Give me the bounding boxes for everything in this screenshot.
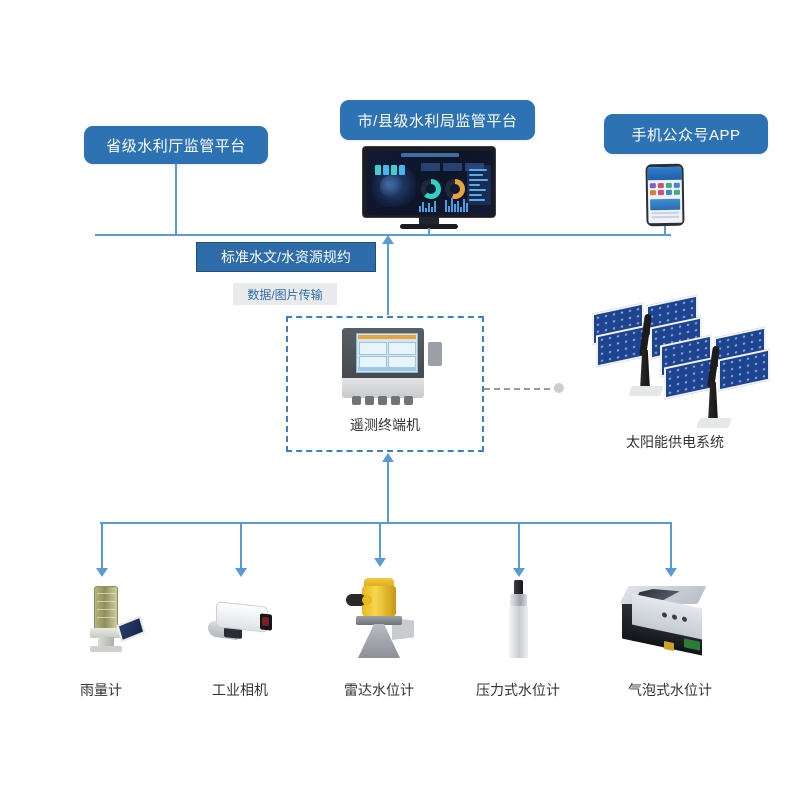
protocol-label-text: 标准水文/水资源规约 [221, 247, 351, 267]
smartphone-icon [645, 164, 684, 227]
sensor-label-rain-gauge: 雨量计 [31, 680, 171, 700]
rtu-label: 遥测终端机 [286, 415, 484, 435]
phone-app-header [648, 167, 682, 181]
sensor-label-text: 雨量计 [80, 682, 122, 698]
rain-gauge-cylinder [94, 586, 118, 630]
sensor-arrow-bubbler [665, 568, 677, 577]
riser-phone [664, 226, 666, 236]
radar-cable-port [346, 594, 366, 606]
camera-lens [260, 613, 272, 630]
monitor-bezel [362, 146, 496, 218]
monitor-kpi-widget [375, 165, 405, 175]
sensor-label-radar-level: 雷达水位计 [309, 680, 449, 700]
rtu-antenna-tip [554, 383, 564, 393]
platform-label-app: 手机公众号APP [631, 124, 740, 145]
solar-label: 太阳能供电系统 [580, 432, 770, 452]
sensor-label-text: 雷达水位计 [344, 682, 414, 698]
sensor-drop-radar [379, 522, 381, 560]
dashboard-monitor-icon [362, 146, 496, 230]
rain-gauge-foot [90, 646, 122, 652]
rtu-uplink-line [387, 243, 389, 315]
platform-label-city: 市/县级水利局监管平台 [358, 110, 518, 131]
monitor-screen [367, 151, 493, 215]
sensor-arrow-rain [96, 568, 108, 577]
rtu-enclosure [342, 328, 424, 380]
phone-app-icon-grid [648, 180, 682, 199]
sensor-drop-camera [240, 522, 242, 570]
riser-monitor [428, 228, 430, 236]
rtu-screen [356, 333, 418, 373]
protocol-label: 标准水文/水资源规约 [196, 242, 376, 272]
monitor-table-widget [467, 165, 491, 205]
platform-card-city[interactable]: 市/县级水利局监管平台 [340, 100, 535, 140]
monitor-bar-chart [445, 196, 468, 212]
phone-screen [648, 167, 683, 224]
monitor-screen-title [401, 153, 459, 157]
platform-card-app[interactable]: 手机公众号APP [604, 114, 768, 154]
rtu-base-panel [342, 378, 424, 398]
sensor-arrow-radar [374, 558, 386, 567]
pressure-level-icon [492, 580, 548, 658]
transfer-label-text: 数据/图片传输 [247, 286, 322, 303]
platform-card-province[interactable]: 省级水利厅监管平台 [84, 126, 268, 164]
rtu-downlink-line [387, 462, 389, 524]
rtu-cable-glands [352, 396, 413, 405]
sensor-label-bubbler-level: 气泡式水位计 [600, 680, 740, 700]
rtu-label-text: 遥测终端机 [350, 417, 420, 433]
riser-province [175, 164, 177, 234]
transfer-label: 数据/图片传输 [233, 283, 337, 305]
rtu-connector-block [428, 342, 442, 366]
camera-icon [202, 600, 280, 652]
rtu-antenna-lead [484, 388, 560, 390]
sensor-label-text: 压力式水位计 [476, 682, 560, 698]
rtu-icon [336, 328, 438, 406]
sensor-arrow-camera [235, 568, 247, 577]
solar-base [628, 386, 664, 396]
phone-app-list-line [651, 212, 679, 214]
pressure-probe-body [509, 606, 528, 658]
rtu-uplink-arrow [382, 235, 394, 244]
radar-level-icon [342, 572, 422, 658]
sensor-label-text: 工业相机 [212, 682, 268, 698]
bubbler-level-icon [620, 584, 712, 654]
sensor-label-camera: 工业相机 [170, 680, 310, 700]
sensor-bus-line [100, 522, 672, 524]
platform-label-province: 省级水利厅监管平台 [106, 135, 246, 156]
monitor-line-chart [419, 196, 436, 212]
sensor-drop-rain [101, 522, 103, 570]
sensor-label-text: 气泡式水位计 [628, 682, 712, 698]
rain-gauge-icon [78, 582, 158, 654]
sensor-arrow-pressure [513, 568, 525, 577]
diagram-canvas: 省级水利厅监管平台 市/县级水利局监管平台 手机公众号APP [0, 0, 800, 800]
radar-flange [356, 616, 402, 625]
solar-label-text: 太阳能供电系统 [626, 434, 724, 450]
sensor-drop-bubbler [670, 522, 672, 570]
phone-app-list-line [651, 216, 679, 218]
rain-gauge-solar-panel [116, 615, 145, 642]
phone-app-banner [650, 199, 680, 211]
rtu-downlink-arrow [382, 453, 394, 462]
solar-panel-icon [660, 332, 772, 398]
solar-base [696, 418, 732, 428]
bubbler-gas-port [664, 641, 674, 651]
solar-array-2 [660, 332, 772, 398]
sensor-label-pressure-level: 压力式水位计 [448, 680, 588, 700]
sensor-drop-pressure [518, 522, 520, 570]
